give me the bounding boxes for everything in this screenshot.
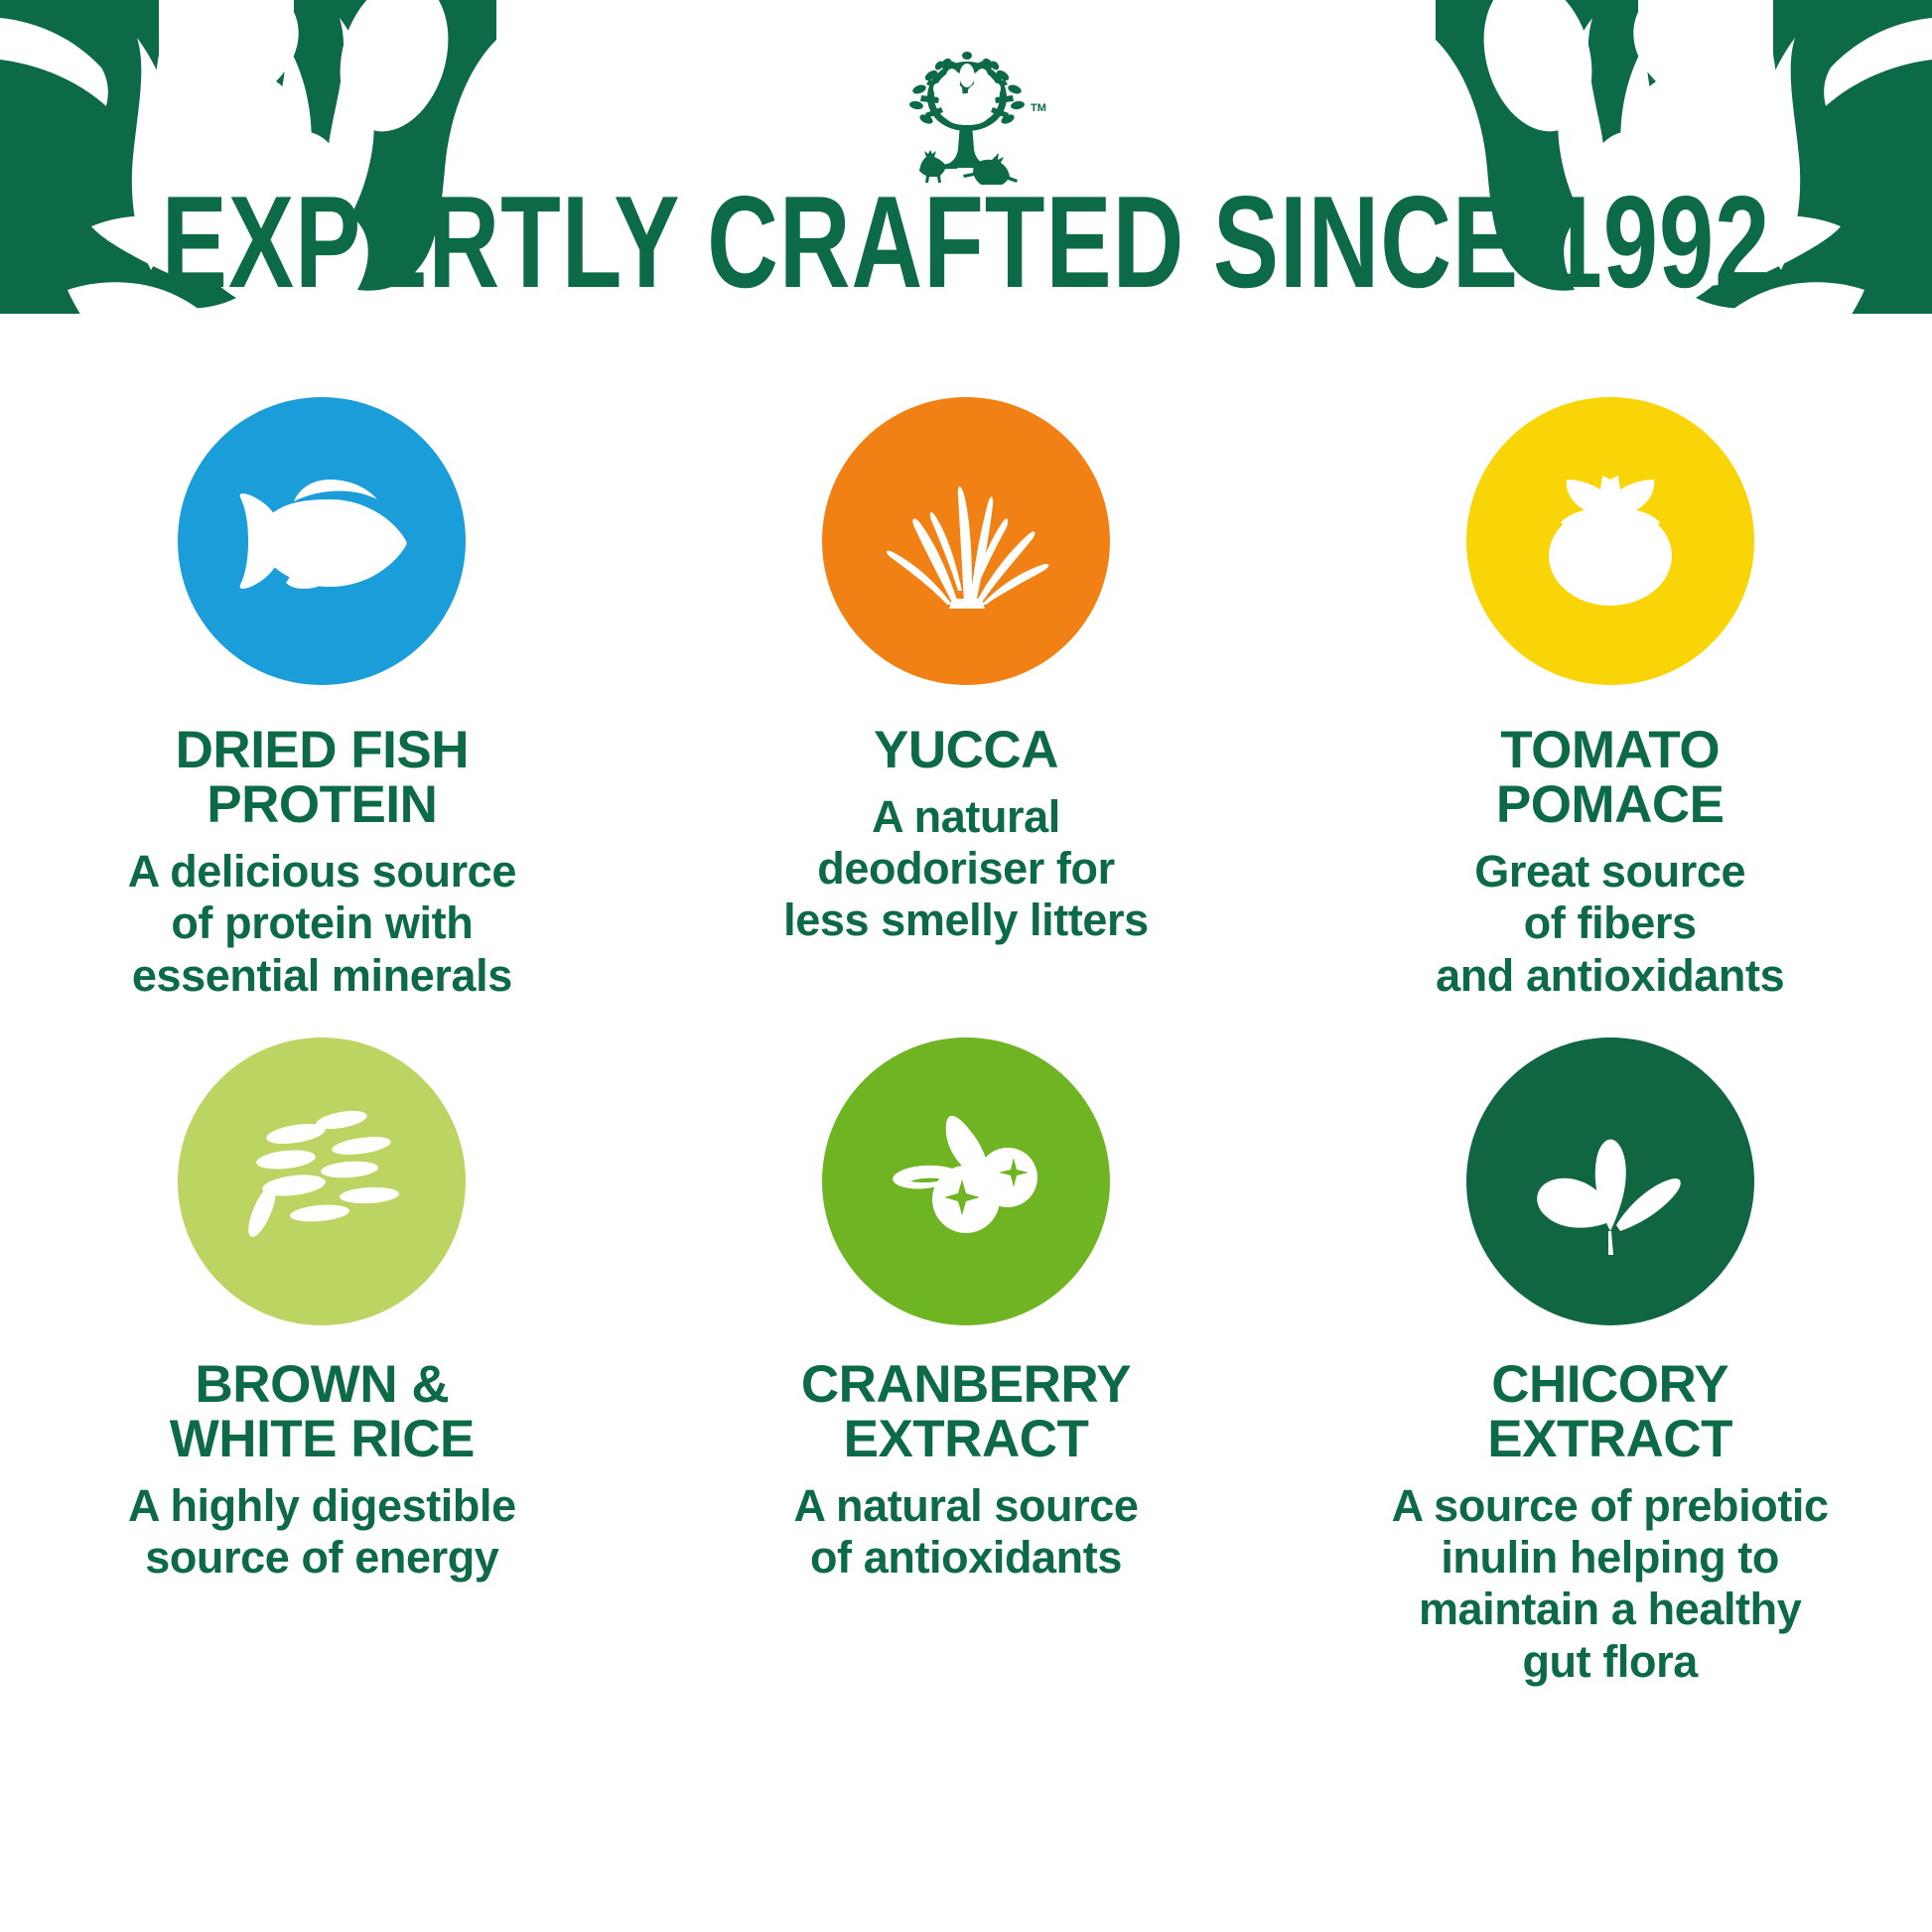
- ingredient-description: A highly digestible source of energy: [128, 1480, 516, 1584]
- ingredient-card-cranberry-extract: CRANBERRY EXTRACT A natural source of an…: [644, 1037, 1289, 1688]
- ingredient-card-yucca: YUCCA A natural deodoriser for less smel…: [644, 397, 1289, 1002]
- chicory-leaves-icon: [1511, 1082, 1710, 1281]
- ingredient-title: YUCCA: [874, 723, 1058, 777]
- tree-paw-cat-dog-logo: TM: [872, 46, 1060, 185]
- ingredient-description: A delicious source of protein with essen…: [128, 846, 516, 1002]
- ingredients-grid: DRIED FISH PROTEIN A delicious source of…: [0, 397, 1932, 1688]
- ingredient-description: A source of prebiotic inulin helping to …: [1392, 1480, 1829, 1688]
- ingredient-card-chicory-extract: CHICORY EXTRACT A source of prebiotic in…: [1288, 1037, 1932, 1688]
- yucca-plant-icon: [867, 442, 1065, 640]
- ingredient-description: Great source of fibers and antioxidants: [1436, 846, 1784, 1002]
- tomato-badge: [1466, 397, 1754, 685]
- header-banner: TM EXPERTLY CRAFTED SINCE 1992: [0, 0, 1932, 338]
- fish-badge: [178, 397, 466, 685]
- ingredient-title: TOMATO POMACE: [1496, 723, 1725, 832]
- page-headline: EXPERTLY CRAFTED SINCE 1992: [77, 177, 1855, 308]
- fish-icon: [222, 442, 421, 640]
- chicory-badge: [1466, 1037, 1754, 1325]
- rice-grains-icon: [222, 1082, 421, 1281]
- ingredient-title: BROWN & WHITE RICE: [170, 1357, 475, 1466]
- cranberry-badge: [822, 1037, 1110, 1325]
- tomato-icon: [1511, 442, 1710, 640]
- ingredient-title: CHICORY EXTRACT: [1487, 1357, 1732, 1466]
- ingredient-card-dried-fish-protein: DRIED FISH PROTEIN A delicious source of…: [0, 397, 644, 1002]
- ingredient-title: DRIED FISH PROTEIN: [176, 723, 469, 832]
- ingredient-description: A natural deodoriser for less smelly lit…: [783, 791, 1149, 947]
- trademark-mark: TM: [1031, 102, 1046, 114]
- cranberry-icon: [867, 1082, 1065, 1281]
- rice-badge: [178, 1037, 466, 1325]
- ingredient-card-brown-white-rice: BROWN & WHITE RICE A highly digestible s…: [0, 1037, 644, 1688]
- ingredient-title: CRANBERRY EXTRACT: [801, 1357, 1131, 1466]
- yucca-badge: [822, 397, 1110, 685]
- ingredient-card-tomato-pomace: TOMATO POMACE Great source of fibers and…: [1288, 397, 1932, 1002]
- ingredient-description: A natural source of antioxidants: [793, 1480, 1138, 1584]
